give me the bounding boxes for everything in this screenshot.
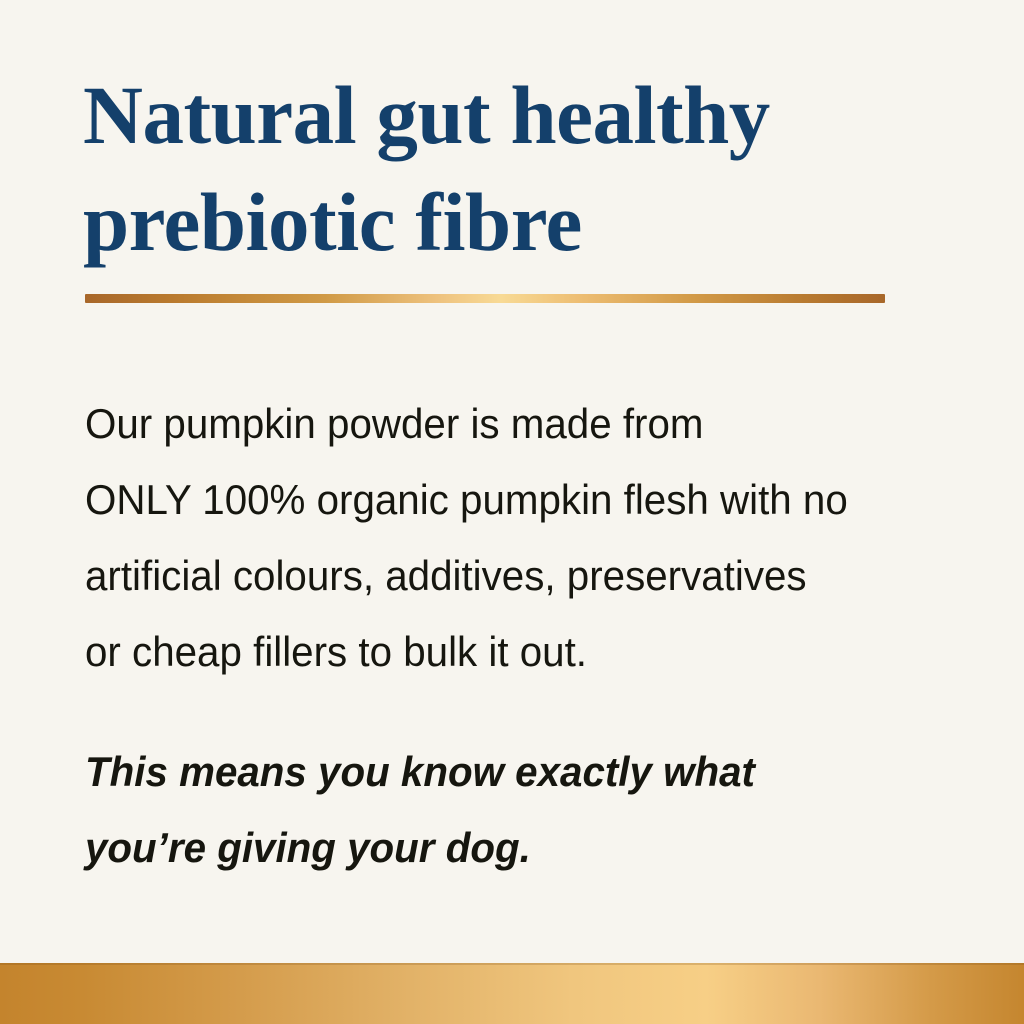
footer-gold-band [0, 963, 1024, 1024]
gold-divider-rule [85, 294, 885, 303]
promo-card: Natural gut healthy prebiotic fibre Our … [0, 0, 1024, 1024]
emphasis-statement: This means you know exactly what you’re … [85, 734, 920, 886]
footer-band-top-edge [0, 963, 1024, 965]
page-title: Natural gut healthy prebiotic fibre [83, 62, 913, 276]
body-paragraph: Our pumpkin powder is made from ONLY 100… [85, 386, 920, 690]
